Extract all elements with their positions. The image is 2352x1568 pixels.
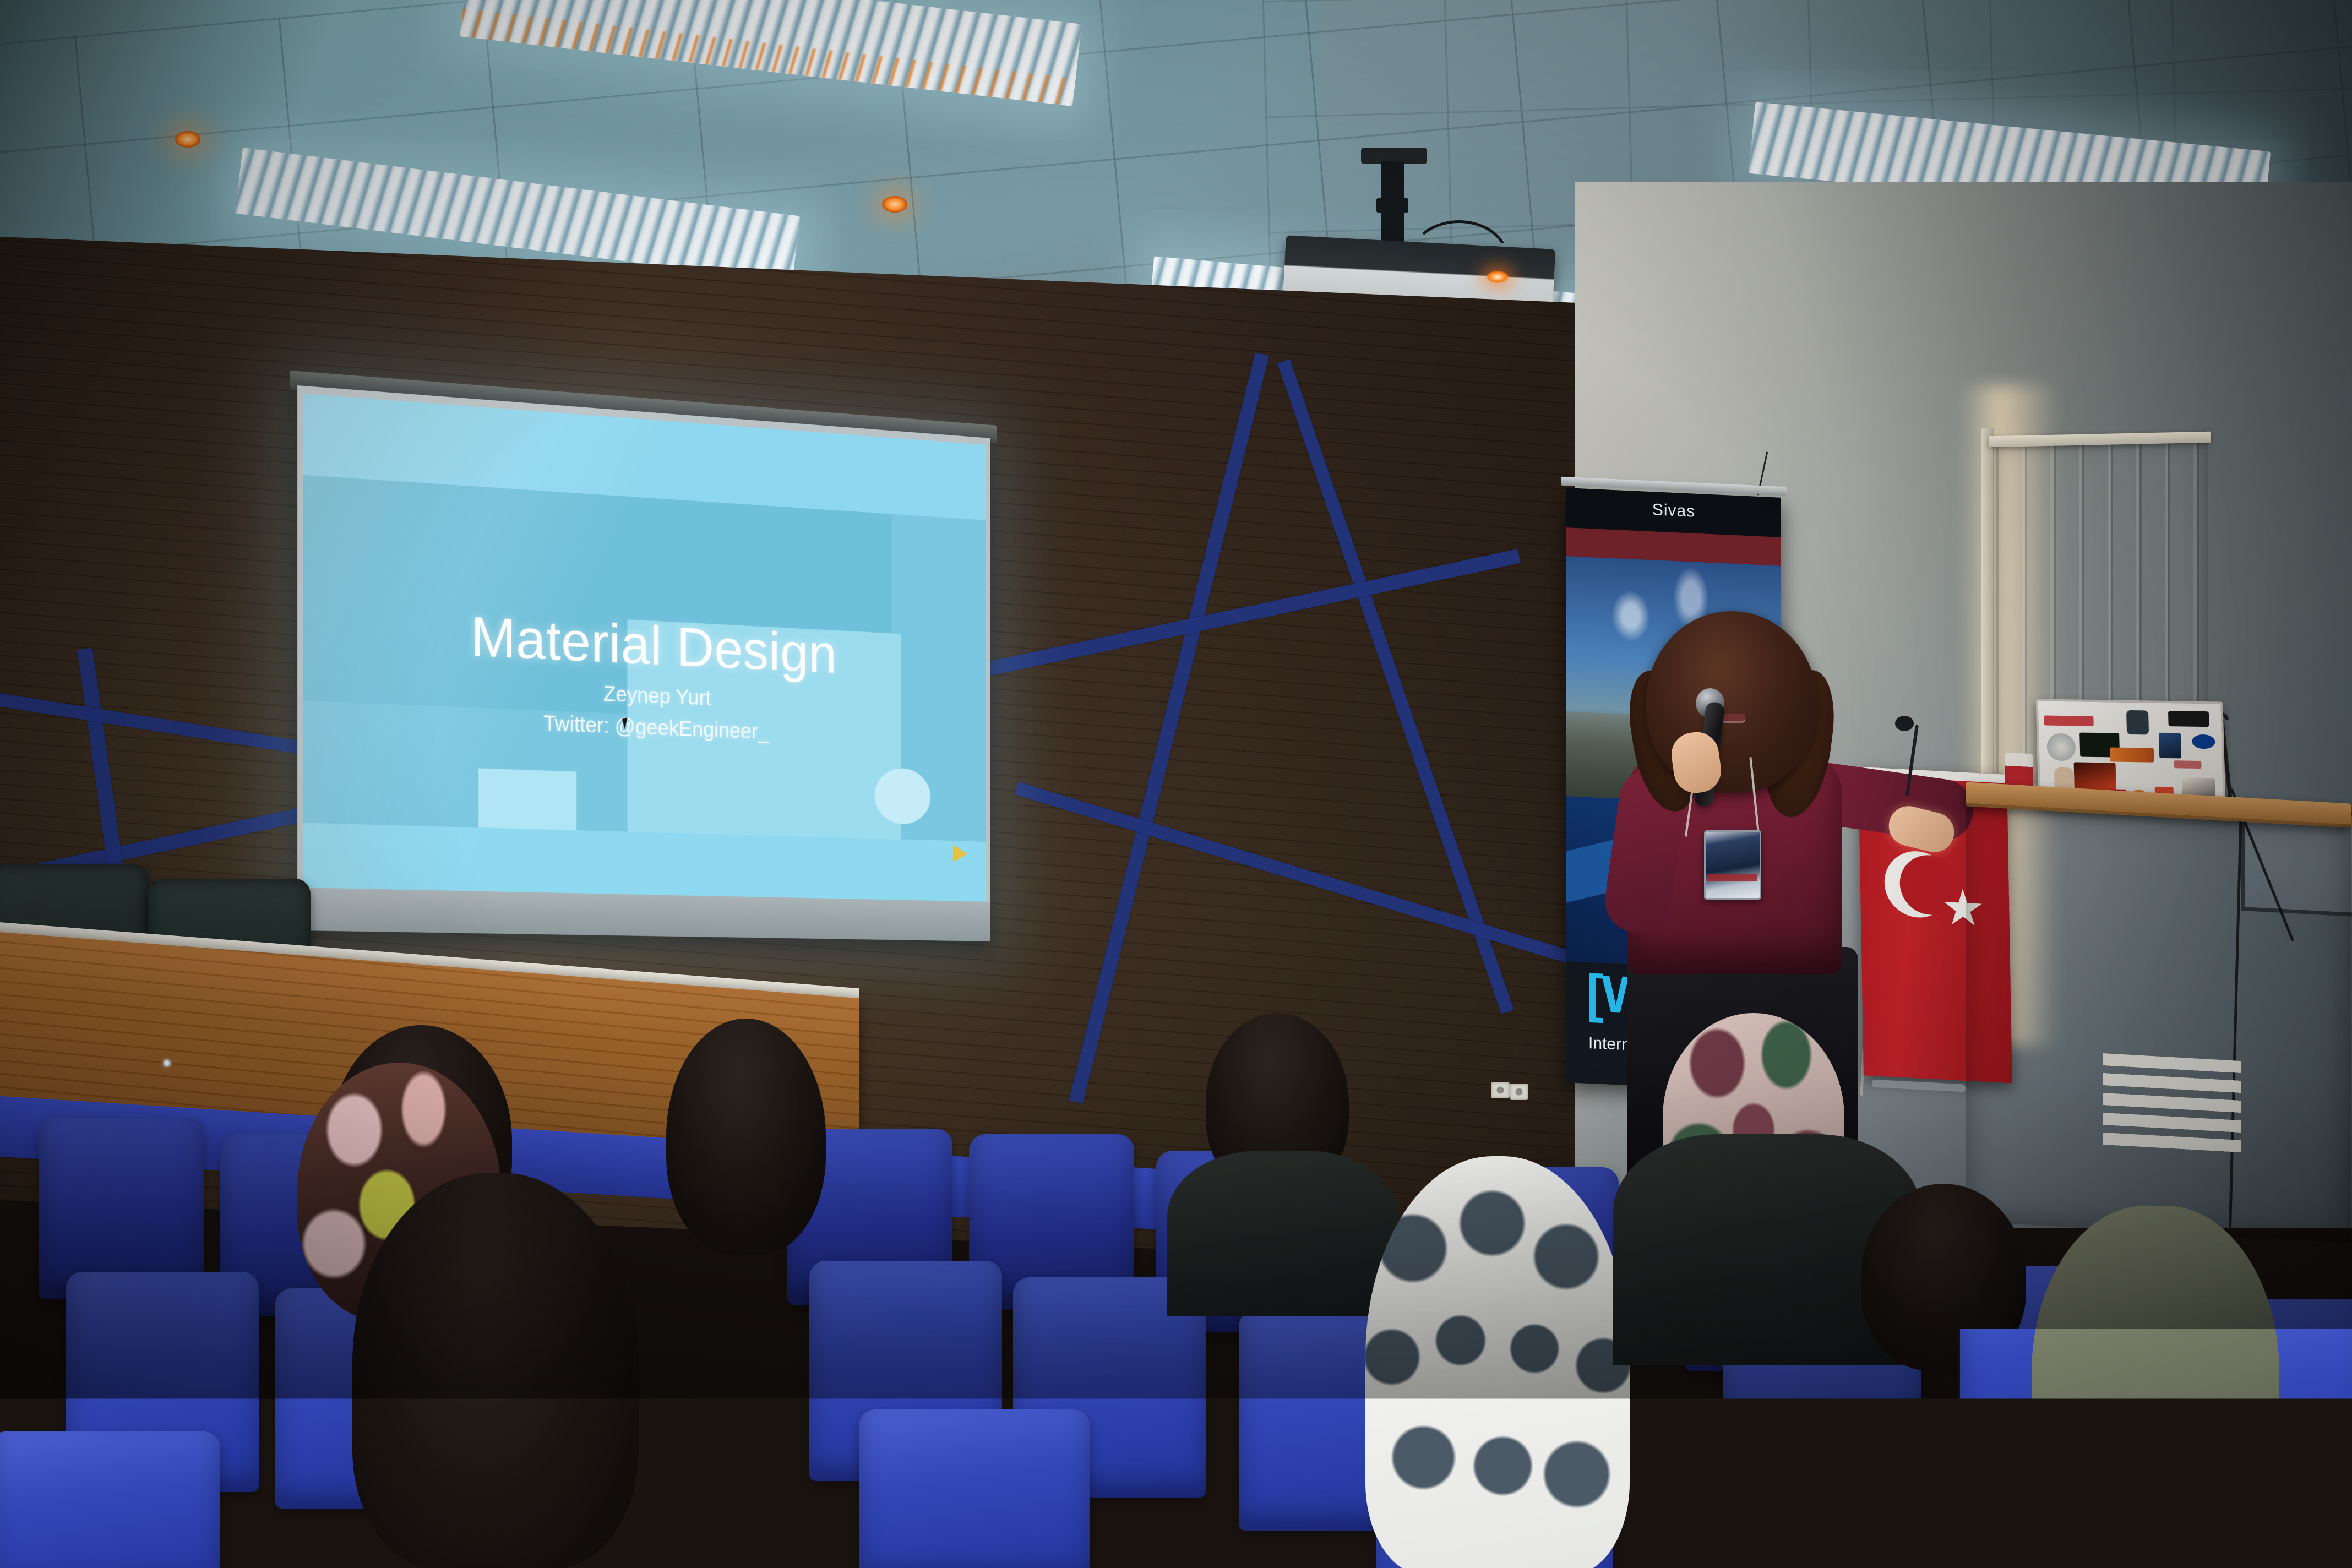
projection-screen: Material Design Zeynep Yurt Twitter: @ge… bbox=[297, 385, 990, 941]
audience-head-8 bbox=[1861, 1184, 2026, 1371]
auditorium-photo: Material Design Zeynep Yurt Twitter: @ge… bbox=[0, 0, 2352, 1568]
sticker-spark bbox=[2168, 711, 2209, 727]
sticker-marks bbox=[2174, 760, 2201, 769]
podium-mic-capsule-2 bbox=[1895, 716, 1914, 731]
projector-mount-collar bbox=[1376, 198, 1408, 213]
seat-front-2[interactable] bbox=[859, 1409, 1090, 1568]
speaker-badge bbox=[1704, 830, 1761, 900]
audience-head-9-olive-scarf bbox=[2032, 1206, 2279, 1568]
sticker-badge-round bbox=[2046, 733, 2076, 761]
sticker-orange-banner bbox=[2110, 747, 2154, 762]
podium bbox=[1966, 803, 2351, 1243]
presentation-slide: Material Design Zeynep Yurt Twitter: @ge… bbox=[303, 394, 986, 903]
wall-power-outlet-2 bbox=[1510, 1084, 1528, 1100]
projector-power-led bbox=[1487, 271, 1509, 283]
seat-front-4[interactable] bbox=[1817, 1476, 2059, 1568]
seat-front-1[interactable] bbox=[0, 1431, 220, 1568]
sticker-poster bbox=[2159, 733, 2181, 759]
recessed-downlight-2 bbox=[882, 196, 907, 213]
recessed-downlight-1 bbox=[175, 131, 200, 148]
speaker-badge-stripe bbox=[1707, 874, 1757, 881]
audience-head-3 bbox=[352, 1173, 639, 1568]
projection-screen-surface: Material Design Zeynep Yurt Twitter: @ge… bbox=[297, 385, 990, 941]
sticker-nasa bbox=[2192, 734, 2215, 749]
stage-screw-1 bbox=[163, 1059, 171, 1067]
wall-power-outlet-1 bbox=[1491, 1082, 1510, 1098]
audience-head-4 bbox=[666, 1019, 826, 1255]
podium-vent-slats bbox=[2103, 1053, 2241, 1158]
window-frame bbox=[1981, 428, 1994, 792]
slide-play-triangle-icon bbox=[953, 845, 967, 862]
flag-crescent-icon bbox=[1884, 850, 1951, 919]
audience-shoulders-5 bbox=[1167, 1151, 1398, 1316]
sticker-neon-sign bbox=[2074, 762, 2116, 790]
speaker-hair bbox=[1646, 611, 1817, 793]
sticker-databricks bbox=[2044, 715, 2093, 726]
audience-head-6-polkadot-scarf bbox=[1365, 1156, 1630, 1568]
sticker-github-octocat bbox=[2126, 710, 2149, 735]
banner-subtitle: Intern bbox=[1588, 1034, 1631, 1054]
